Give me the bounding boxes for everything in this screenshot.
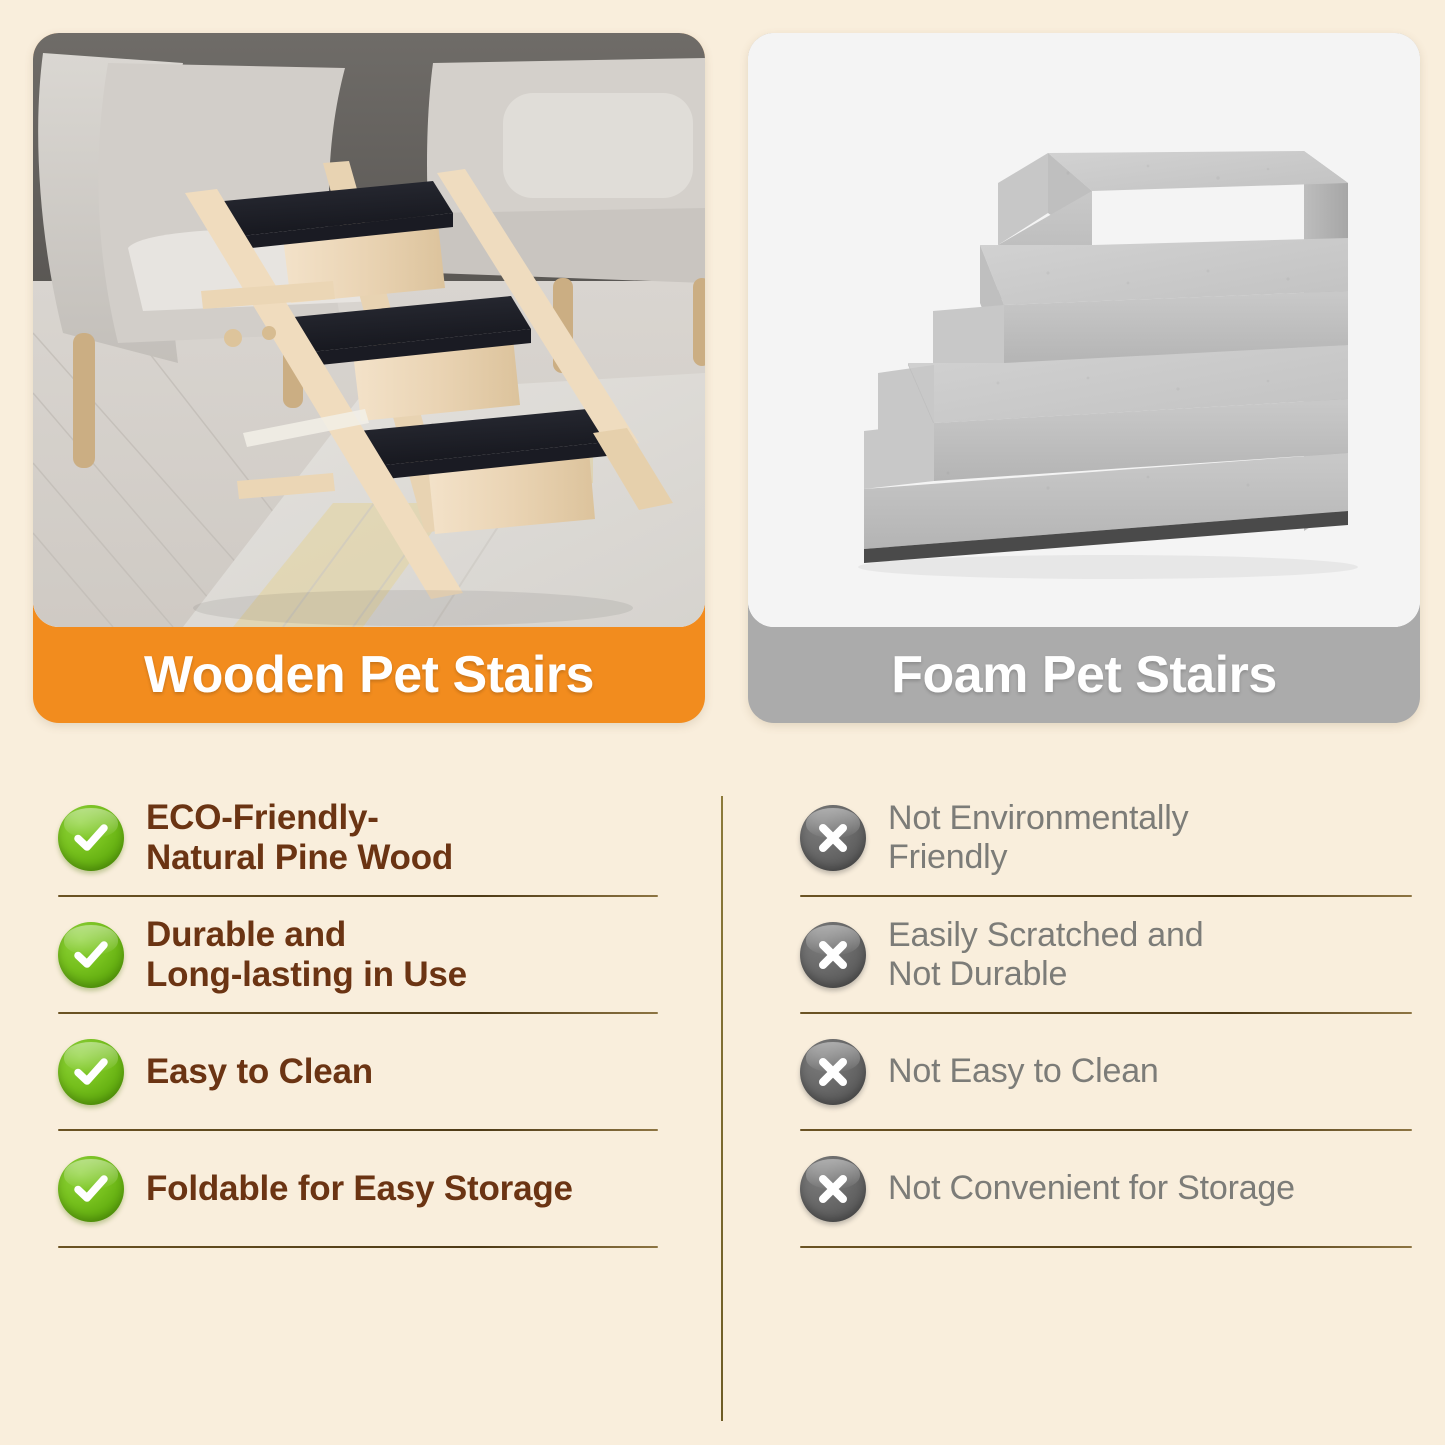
wooden-feature-list: ECO-Friendly- Natural Pine Wood Durable … <box>58 780 662 1248</box>
list-item: Foldable for Easy Storage <box>58 1131 662 1246</box>
foam-pet-stairs-banner: Foam Pet Stairs <box>748 627 1420 723</box>
check-icon <box>58 805 124 871</box>
cross-icon <box>800 922 866 988</box>
foam-stairs-illustration <box>748 33 1420 627</box>
foam-pet-stairs-card[interactable]: Foam Pet Stairs <box>748 33 1420 723</box>
row-divider <box>800 1246 1412 1248</box>
row-divider <box>58 1246 658 1248</box>
cross-icon <box>800 805 866 871</box>
check-icon <box>58 1156 124 1222</box>
product-cards-row: Wooden Pet Stairs <box>0 0 1445 760</box>
list-item: Durable and Long-lasting in Use <box>58 897 662 1012</box>
comparison-infographic: Wooden Pet Stairs <box>0 0 1445 1445</box>
foam-pet-stairs-title: Foam Pet Stairs <box>891 645 1277 705</box>
foam-pet-stairs-photo <box>748 33 1420 627</box>
wooden-pet-stairs-title: Wooden Pet Stairs <box>144 645 594 705</box>
feature-comparison: ECO-Friendly- Natural Pine Wood Durable … <box>0 780 1445 1445</box>
wooden-pet-stairs-photo <box>33 33 705 627</box>
list-item-label: Durable and Long-lasting in Use <box>146 915 467 994</box>
list-item-label: Foldable for Easy Storage <box>146 1169 573 1209</box>
list-item: Not Convenient for Storage <box>800 1131 1420 1246</box>
list-item-label: Easily Scratched and Not Durable <box>888 916 1203 993</box>
list-item-label: Not Convenient for Storage <box>888 1169 1295 1207</box>
check-icon <box>58 922 124 988</box>
cross-icon <box>800 1156 866 1222</box>
list-item-label: ECO-Friendly- Natural Pine Wood <box>146 798 453 877</box>
wooden-pet-stairs-card[interactable]: Wooden Pet Stairs <box>33 33 705 723</box>
list-item: ECO-Friendly- Natural Pine Wood <box>58 780 662 895</box>
list-item-label: Not Environmentally Friendly <box>888 799 1188 876</box>
wooden-stairs-illustration <box>33 33 705 627</box>
list-item: Not Environmentally Friendly <box>800 780 1420 895</box>
column-divider <box>721 796 723 1421</box>
list-item: Not Easy to Clean <box>800 1014 1420 1129</box>
list-item-label: Not Easy to Clean <box>888 1052 1159 1090</box>
cross-icon <box>800 1039 866 1105</box>
wooden-pet-stairs-banner: Wooden Pet Stairs <box>33 627 705 723</box>
list-item: Easy to Clean <box>58 1014 662 1129</box>
check-icon <box>58 1039 124 1105</box>
foam-feature-list: Not Environmentally Friendly Easily Scra… <box>800 780 1420 1248</box>
list-item-label: Easy to Clean <box>146 1052 373 1092</box>
list-item: Easily Scratched and Not Durable <box>800 897 1420 1012</box>
